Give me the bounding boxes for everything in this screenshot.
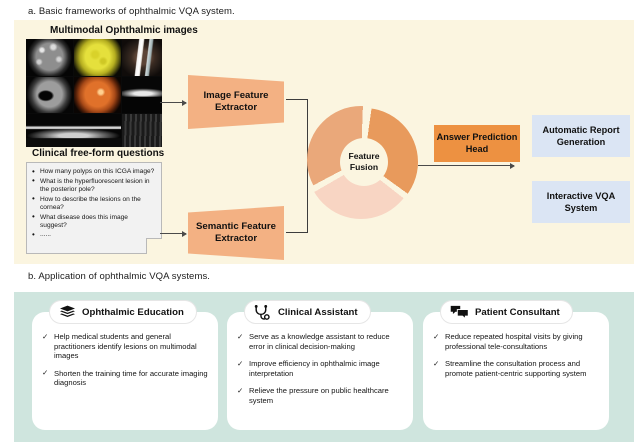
- figure-root: a. Basic frameworks of ophthalmic VQA sy…: [0, 0, 640, 444]
- image-cell-autofluorescence: [74, 39, 121, 76]
- bullet-text: Improve efficiency in ophthalmic image i…: [249, 359, 380, 378]
- list-item: ✓ Relieve the pressure on public healthc…: [237, 386, 405, 405]
- card-body-patient-consultant: ✓ Reduce repeated hospital visits by giv…: [433, 332, 601, 386]
- check-icon: ✓: [237, 386, 243, 396]
- arrow-fusion-to-outputs: [418, 165, 514, 166]
- speech-bubbles-icon: [450, 305, 469, 320]
- image-cell-anterior-oct: [122, 77, 162, 113]
- list-item: ✓ Reduce repeated hospital visits by giv…: [433, 332, 601, 351]
- clinical-questions-list: How many polyps on this ICGA image? What…: [32, 168, 156, 240]
- list-item: What is the hyperfluorescent lesion in t…: [32, 178, 156, 194]
- bullet-text: Help medical students and general practi…: [54, 332, 197, 360]
- list-item: ✓ Shorten the training time for accurate…: [42, 369, 210, 388]
- list-item: What disease does this image suggest?: [32, 214, 156, 230]
- check-icon: ✓: [42, 332, 48, 342]
- list-item: How many polyps on this ICGA image?: [32, 168, 156, 176]
- multimodal-images-title: Multimodal Ophthalmic images: [50, 25, 198, 36]
- image-cell-slit-lamp: [122, 39, 162, 76]
- card-body-education: ✓ Help medical students and general prac…: [42, 332, 210, 396]
- list-item: ✓ Help medical students and general prac…: [42, 332, 210, 361]
- semantic-feature-extractor-block: Semantic Feature Extractor: [188, 206, 284, 260]
- books-stack-icon: [59, 305, 76, 320]
- image-cell-fluorescein-angiography: [26, 39, 73, 76]
- card-title-patient-consultant: Patient Consultant: [475, 307, 560, 318]
- bullet-text: Serve as a knowledge assistant to reduce…: [249, 332, 390, 351]
- bullet-text: Relieve the pressure on public healthcar…: [249, 386, 389, 405]
- clinical-questions-title: Clinical free-form questions: [32, 148, 164, 159]
- multimodal-image-grid: [26, 39, 162, 147]
- caption-panel-b: b. Application of ophthalmic VQA systems…: [28, 271, 210, 282]
- check-icon: ✓: [237, 359, 243, 369]
- arrow-questions-to-extractor: [160, 233, 186, 234]
- card-header-education: Ophthalmic Education: [50, 301, 196, 323]
- caption-panel-a: a. Basic frameworks of ophthalmic VQA sy…: [28, 6, 235, 17]
- clinical-questions-note: How many polyps on this ICGA image? What…: [26, 162, 162, 254]
- image-feature-extractor-block: Image Feature Extractor: [188, 75, 284, 129]
- list-item: ......: [32, 231, 156, 239]
- output-automatic-report-generation: Automatic Report Generation: [532, 115, 630, 157]
- stethoscope-icon: [254, 305, 272, 320]
- card-body-clinical-assistant: ✓ Serve as a knowledge assistant to redu…: [237, 332, 405, 414]
- feature-fusion-label: Feature Fusion: [340, 138, 388, 186]
- list-item: How to describe the lesions on the corne…: [32, 196, 156, 212]
- bullet-text: Streamline the consultation process and …: [445, 359, 586, 378]
- bullet-text: Shorten the training time for accurate i…: [54, 369, 208, 388]
- panel-a-framework: Multimodal Ophthalmic images Clinical fr…: [14, 20, 634, 264]
- output-interactive-vqa-system: Interactive VQA System: [532, 181, 630, 223]
- answer-prediction-head-block: Answer Prediction Head: [434, 125, 520, 162]
- bullet-text: Reduce repeated hospital visits by givin…: [445, 332, 583, 351]
- application-card-patient-consultant: Patient Consultant ✓ Reduce repeated hos…: [423, 312, 609, 430]
- application-card-clinical-assistant: Clinical Assistant ✓ Serve as a knowledg…: [227, 312, 413, 430]
- check-icon: ✓: [42, 368, 48, 378]
- feature-fusion-donut: Feature Fusion: [310, 108, 418, 216]
- list-item: ✓ Streamline the consultation process an…: [433, 359, 601, 378]
- image-cell-macular-oct: [26, 114, 121, 147]
- card-title-education: Ophthalmic Education: [82, 307, 184, 318]
- card-title-clinical-assistant: Clinical Assistant: [278, 307, 358, 318]
- application-card-education: Ophthalmic Education ✓ Help medical stud…: [32, 312, 218, 430]
- list-item: ✓ Improve efficiency in ophthalmic image…: [237, 359, 405, 378]
- panel-b-applications: Ophthalmic Education ✓ Help medical stud…: [14, 292, 634, 442]
- check-icon: ✓: [237, 332, 243, 342]
- list-item: ✓ Serve as a knowledge assistant to redu…: [237, 332, 405, 351]
- image-cell-icga-lesion: [26, 77, 73, 113]
- card-header-clinical-assistant: Clinical Assistant: [245, 301, 370, 323]
- card-header-patient-consultant: Patient Consultant: [441, 301, 572, 323]
- check-icon: ✓: [433, 332, 439, 342]
- image-cell-color-fundus: [74, 77, 121, 113]
- check-icon: ✓: [433, 359, 439, 369]
- merge-bracket: [286, 99, 308, 233]
- arrow-images-to-extractor: [160, 102, 186, 103]
- image-cell-ubm: [122, 114, 162, 147]
